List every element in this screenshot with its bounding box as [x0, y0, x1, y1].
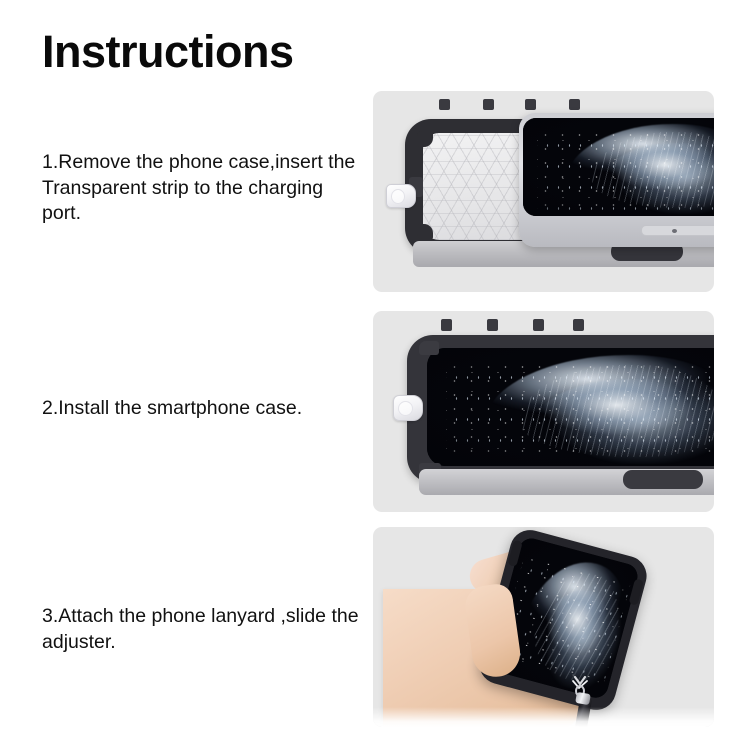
step-3-text: 3.Attach the phone lanyard ,slide the ad…: [42, 604, 360, 655]
case-rail-end-cap: [623, 470, 703, 489]
instructions-text-column: Instructions 1.Remove the phone case,ins…: [0, 0, 370, 750]
speaker-slot-icon: [641, 225, 714, 236]
step-2-image-panel: [373, 311, 714, 512]
empty-case-scene: [373, 91, 714, 292]
port-plug-cover-icon: [569, 99, 580, 110]
lanyard-adjuster: [575, 692, 591, 705]
rugged-case-body: [407, 335, 714, 483]
phone-screen: [523, 118, 714, 216]
port-plug-cover-icon: [487, 319, 498, 331]
port-plug-cover-icon: [439, 99, 450, 110]
installed-case-scene: [373, 311, 714, 512]
floor-fade: [373, 707, 714, 727]
silver-phone-body: [519, 113, 714, 247]
step-2-text: 2.Install the smartphone case.: [42, 396, 360, 422]
port-plug-cover-icon: [483, 99, 494, 110]
screen-vignette: [523, 118, 714, 216]
case-corner-bumper-icon: [419, 341, 439, 355]
step-3-image-panel: [373, 527, 714, 727]
transparent-charging-strip-icon: [393, 395, 423, 421]
port-plug-cover-icon: [525, 99, 536, 110]
page-title: Instructions: [42, 28, 294, 75]
step-1-text: 1.Remove the phone case,insert the Trans…: [42, 150, 360, 227]
step-1-image-panel: [373, 91, 714, 292]
ocean-wave-wallpaper: [523, 118, 714, 216]
case-corner-bumper-icon: [417, 224, 433, 239]
phone-screen: [427, 348, 714, 466]
screen-vignette: [427, 348, 714, 466]
ocean-wave-wallpaper: [427, 348, 714, 466]
port-plug-cover-icon: [441, 319, 452, 331]
port-plug-cover-icon: [573, 319, 584, 331]
instructions-page: Instructions 1.Remove the phone case,ins…: [0, 0, 750, 750]
transparent-charging-strip-icon: [386, 184, 416, 208]
port-plug-cover-icon: [533, 319, 544, 331]
hand-holding-phone-scene: [373, 527, 714, 727]
